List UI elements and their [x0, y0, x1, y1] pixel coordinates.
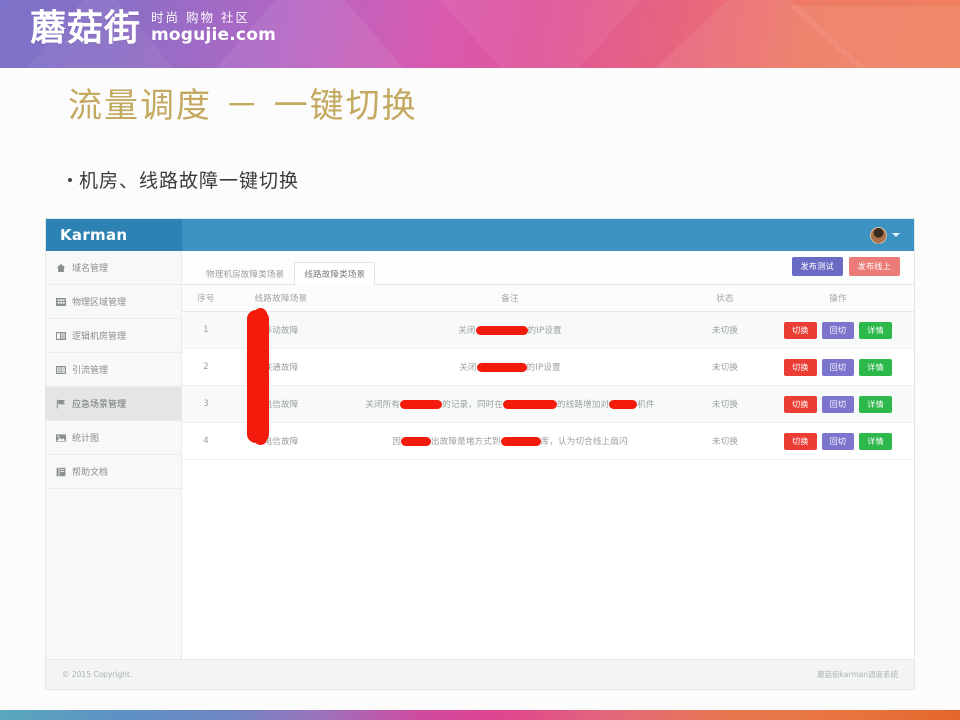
cell-scenario: 联通故障: [230, 349, 332, 386]
note-text: 关闭: [458, 326, 475, 336]
cell-no: 1: [182, 312, 230, 349]
app-footer: © 2015 Copyright. 蘑菇街karman调度系统: [46, 659, 914, 689]
cell-status: 未切换: [688, 312, 762, 349]
scenario-table: 序号 线路故障场景 备注 状态 操作 1 移动故障 关闭的IP设置: [182, 285, 914, 460]
revert-button[interactable]: 回切: [822, 433, 855, 450]
cell-status: 未切换: [688, 423, 762, 460]
redaction-mark: [477, 363, 527, 372]
revert-button[interactable]: 回切: [822, 396, 855, 413]
note-text: 库，认为切合线上扇闪: [541, 437, 628, 447]
note-text: 机件: [637, 400, 654, 410]
sidebar-item-label: 统计图: [72, 431, 99, 444]
app-topbar-right: [182, 219, 914, 251]
switch-button[interactable]: 切换: [784, 322, 817, 339]
cell-actions: 切换 回切 详情: [762, 312, 914, 349]
chevron-down-icon[interactable]: [892, 233, 900, 237]
col-header-note: 备注: [332, 285, 688, 312]
note-text: 的IP设置: [528, 326, 562, 336]
sidebar-item-domain[interactable]: 域名管理: [46, 251, 181, 285]
footer-system-name: 蘑菇街karman调度系统: [817, 669, 898, 680]
sidebar-item-label: 物理区域管理: [72, 295, 126, 308]
cell-note: 关闭所有的记录，同时在的线路增加对机件: [332, 386, 688, 423]
details-button[interactable]: 详情: [859, 396, 892, 413]
note-text: 的IP设置: [527, 363, 561, 373]
table-row[interactable]: 1 移动故障 关闭的IP设置 未切换 切换 回切 详情: [182, 312, 914, 349]
redaction-mark: [400, 400, 442, 409]
redaction-mark: [476, 326, 528, 335]
sidebar-item-label: 帮助文档: [72, 465, 108, 478]
col-header-scenario: 线路故障场景: [230, 285, 332, 312]
table-row[interactable]: 3 电信故障 关闭所有的记录，同时在的线路增加对机件 未切换 切换 回切 详情: [182, 386, 914, 423]
table-icon: [56, 365, 66, 375]
switch-button[interactable]: 切换: [784, 433, 817, 450]
details-button[interactable]: 详情: [859, 359, 892, 376]
table-row[interactable]: 4 电信故障 因出故障是堵方式到库，认为切合线上扇闪 未切换 切换 回切 详情: [182, 423, 914, 460]
sidebar: 域名管理 物理区域管理 逻辑机房管理 引流管理 应急场景管理: [46, 251, 182, 659]
note-text: 的记录，同时在: [442, 400, 503, 410]
note-text: 关闭所有: [365, 400, 400, 410]
sidebar-item-traffic[interactable]: 引流管理: [46, 353, 181, 387]
page-title: 流量调度 － 一键切换: [68, 78, 418, 127]
bottom-gradient-bar: [0, 710, 960, 720]
redaction-mark: [609, 400, 637, 409]
cell-status: 未切换: [688, 386, 762, 423]
app-logo[interactable]: Karman: [46, 219, 182, 251]
redaction-mark: [503, 400, 557, 409]
bullet-dot-icon: [68, 178, 72, 182]
cell-status: 未切换: [688, 349, 762, 386]
flag-icon: [56, 399, 66, 409]
tab-physical-idc-scenarios[interactable]: 物理机房故障类场景: [196, 262, 294, 285]
redaction-mark: [254, 308, 267, 445]
brand-logo: 蘑菇街 时尚 购物 社区 mogujie.com: [30, 10, 276, 47]
bullet-text: 机房、线路故障一键切换: [79, 166, 299, 193]
note-text: 因: [392, 437, 401, 447]
sidebar-item-statistics[interactable]: 统计图: [46, 421, 181, 455]
content-pane: 物理机房故障类场景 线路故障类场景 发布测试 发布线上 序号 线路故障场景 备注…: [182, 251, 914, 659]
redaction-mark: [401, 437, 431, 446]
list-icon: [56, 331, 66, 341]
cell-note: 关闭的IP设置: [332, 312, 688, 349]
col-header-status: 状态: [688, 285, 762, 312]
tab-line-fault-scenarios[interactable]: 线路故障类场景: [294, 262, 375, 285]
brand-banner: 蘑菇街 时尚 购物 社区 mogujie.com: [0, 0, 960, 68]
slide-root: 蘑菇街 时尚 购物 社区 mogujie.com 流量调度 － 一键切换 机房、…: [0, 0, 960, 720]
chart-image-icon: [56, 433, 66, 443]
book-icon: [56, 467, 66, 477]
details-button[interactable]: 详情: [859, 433, 892, 450]
cell-scenario: 移动故障: [230, 312, 332, 349]
sidebar-item-label: 引流管理: [72, 363, 108, 376]
app-screenshot: Karman 域名管理 物理区域管理 逻辑机房管理: [45, 218, 915, 690]
footer-copyright: © 2015 Copyright.: [62, 670, 132, 679]
brand-tagline: 时尚 购物 社区: [151, 10, 276, 26]
sidebar-item-label: 应急场景管理: [72, 397, 126, 410]
bullet-item: 机房、线路故障一键切换: [68, 166, 299, 193]
col-header-actions: 操作: [762, 285, 914, 312]
tab-bar: 物理机房故障类场景 线路故障类场景 发布测试 发布线上: [182, 251, 914, 285]
table-row[interactable]: 2 联通故障 关闭的IP设置 未切换 切换 回切 详情: [182, 349, 914, 386]
cell-note: 因出故障是堵方式到库，认为切合线上扇闪: [332, 423, 688, 460]
brand-name-cn: 蘑菇街: [30, 11, 141, 47]
cell-scenario: 电信故障: [230, 386, 332, 423]
sidebar-item-help-doc[interactable]: 帮助文档: [46, 455, 181, 489]
app-topbar: Karman: [46, 219, 914, 251]
publish-buttons: 发布测试 发布线上: [792, 257, 900, 276]
facet-shape: [790, 6, 960, 68]
publish-test-button[interactable]: 发布测试: [792, 257, 843, 276]
cell-scenario: 电信故障: [230, 423, 332, 460]
revert-button[interactable]: 回切: [822, 322, 855, 339]
cell-note: 关闭的IP设置: [332, 349, 688, 386]
col-header-no: 序号: [182, 285, 230, 312]
cell-actions: 切换 回切 详情: [762, 386, 914, 423]
cell-no: 2: [182, 349, 230, 386]
cell-no: 4: [182, 423, 230, 460]
facet-shape: [430, 0, 650, 68]
app-body: 域名管理 物理区域管理 逻辑机房管理 引流管理 应急场景管理: [46, 251, 914, 659]
switch-button[interactable]: 切换: [784, 396, 817, 413]
facet-shape: [610, 0, 910, 68]
redaction-mark: [501, 437, 541, 446]
home-icon: [56, 263, 66, 273]
user-avatar-icon[interactable]: [870, 227, 887, 244]
sidebar-item-label: 逻辑机房管理: [72, 329, 126, 342]
grid-icon: [56, 297, 66, 307]
sidebar-item-label: 域名管理: [72, 261, 108, 274]
sidebar-item-physical-region[interactable]: 物理区域管理: [46, 285, 181, 319]
brand-domain: mogujie.com: [151, 26, 276, 46]
revert-button[interactable]: 回切: [822, 359, 855, 376]
table-header-row: 序号 线路故障场景 备注 状态 操作: [182, 285, 914, 312]
note-text: 关闭: [459, 363, 476, 373]
switch-button[interactable]: 切换: [784, 359, 817, 376]
cell-actions: 切换 回切 详情: [762, 349, 914, 386]
publish-live-button[interactable]: 发布线上: [849, 257, 900, 276]
cell-no: 3: [182, 386, 230, 423]
details-button[interactable]: 详情: [859, 322, 892, 339]
note-text: 出故障是堵方式到: [431, 437, 501, 447]
cell-actions: 切换 回切 详情: [762, 423, 914, 460]
sidebar-item-emergency-scenario[interactable]: 应急场景管理: [46, 387, 181, 421]
sidebar-item-logical-idc[interactable]: 逻辑机房管理: [46, 319, 181, 353]
note-text: 的线路增加对: [557, 400, 609, 410]
